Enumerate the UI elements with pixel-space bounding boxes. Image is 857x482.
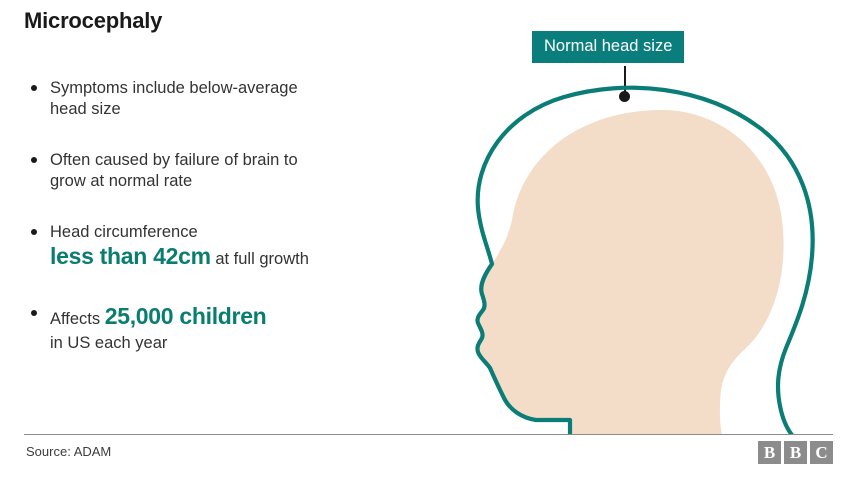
list-item-line: head size <box>50 99 416 120</box>
list-item: Symptoms include below-average head size <box>26 78 416 120</box>
bbc-logo-block: C <box>810 441 833 464</box>
bbc-logo-block: B <box>758 441 781 464</box>
fact-list: Symptoms include below-average head size… <box>26 78 416 354</box>
bullet-dot-icon <box>31 157 37 163</box>
list-item-line: Symptoms include below-average <box>50 78 416 99</box>
bullet-dot-icon <box>31 85 37 91</box>
head-diagram: Infant with microcephaly <box>430 80 857 435</box>
list-item-line: less than 42cm at full growth <box>50 243 416 273</box>
highlight-value: 25,000 children <box>105 303 267 329</box>
list-item-prefix: Affects <box>50 310 105 328</box>
bullet-dot-icon <box>31 310 37 316</box>
list-item: Affects 25,000 children in US each year <box>26 303 416 354</box>
page-title: Microcephaly <box>24 8 162 34</box>
highlight-value: less than 42cm <box>50 243 211 269</box>
source-attribution: Source: ADAM <box>26 444 111 459</box>
infographic-canvas: Microcephaly Symptoms include below-aver… <box>0 0 857 482</box>
microcephaly-head-fill <box>477 110 783 435</box>
head-profile-svg <box>430 80 857 435</box>
list-item-line: in US each year <box>50 333 416 354</box>
normal-head-size-callout: Normal head size <box>532 31 684 63</box>
bbc-logo-block: B <box>784 441 807 464</box>
bbc-logo: B B C <box>758 441 833 464</box>
list-item: Head circumference less than 42cm at ful… <box>26 222 416 273</box>
list-item-line: Often caused by failure of brain to <box>50 150 416 171</box>
list-item-line: Affects 25,000 children <box>50 303 416 333</box>
list-item-line: Head circumference <box>50 222 416 243</box>
bullet-dot-icon <box>31 229 37 235</box>
footer-divider <box>24 434 833 435</box>
list-item-suffix: at full growth <box>211 250 309 268</box>
list-item-line: grow at normal rate <box>50 171 416 192</box>
list-item: Often caused by failure of brain to grow… <box>26 150 416 192</box>
